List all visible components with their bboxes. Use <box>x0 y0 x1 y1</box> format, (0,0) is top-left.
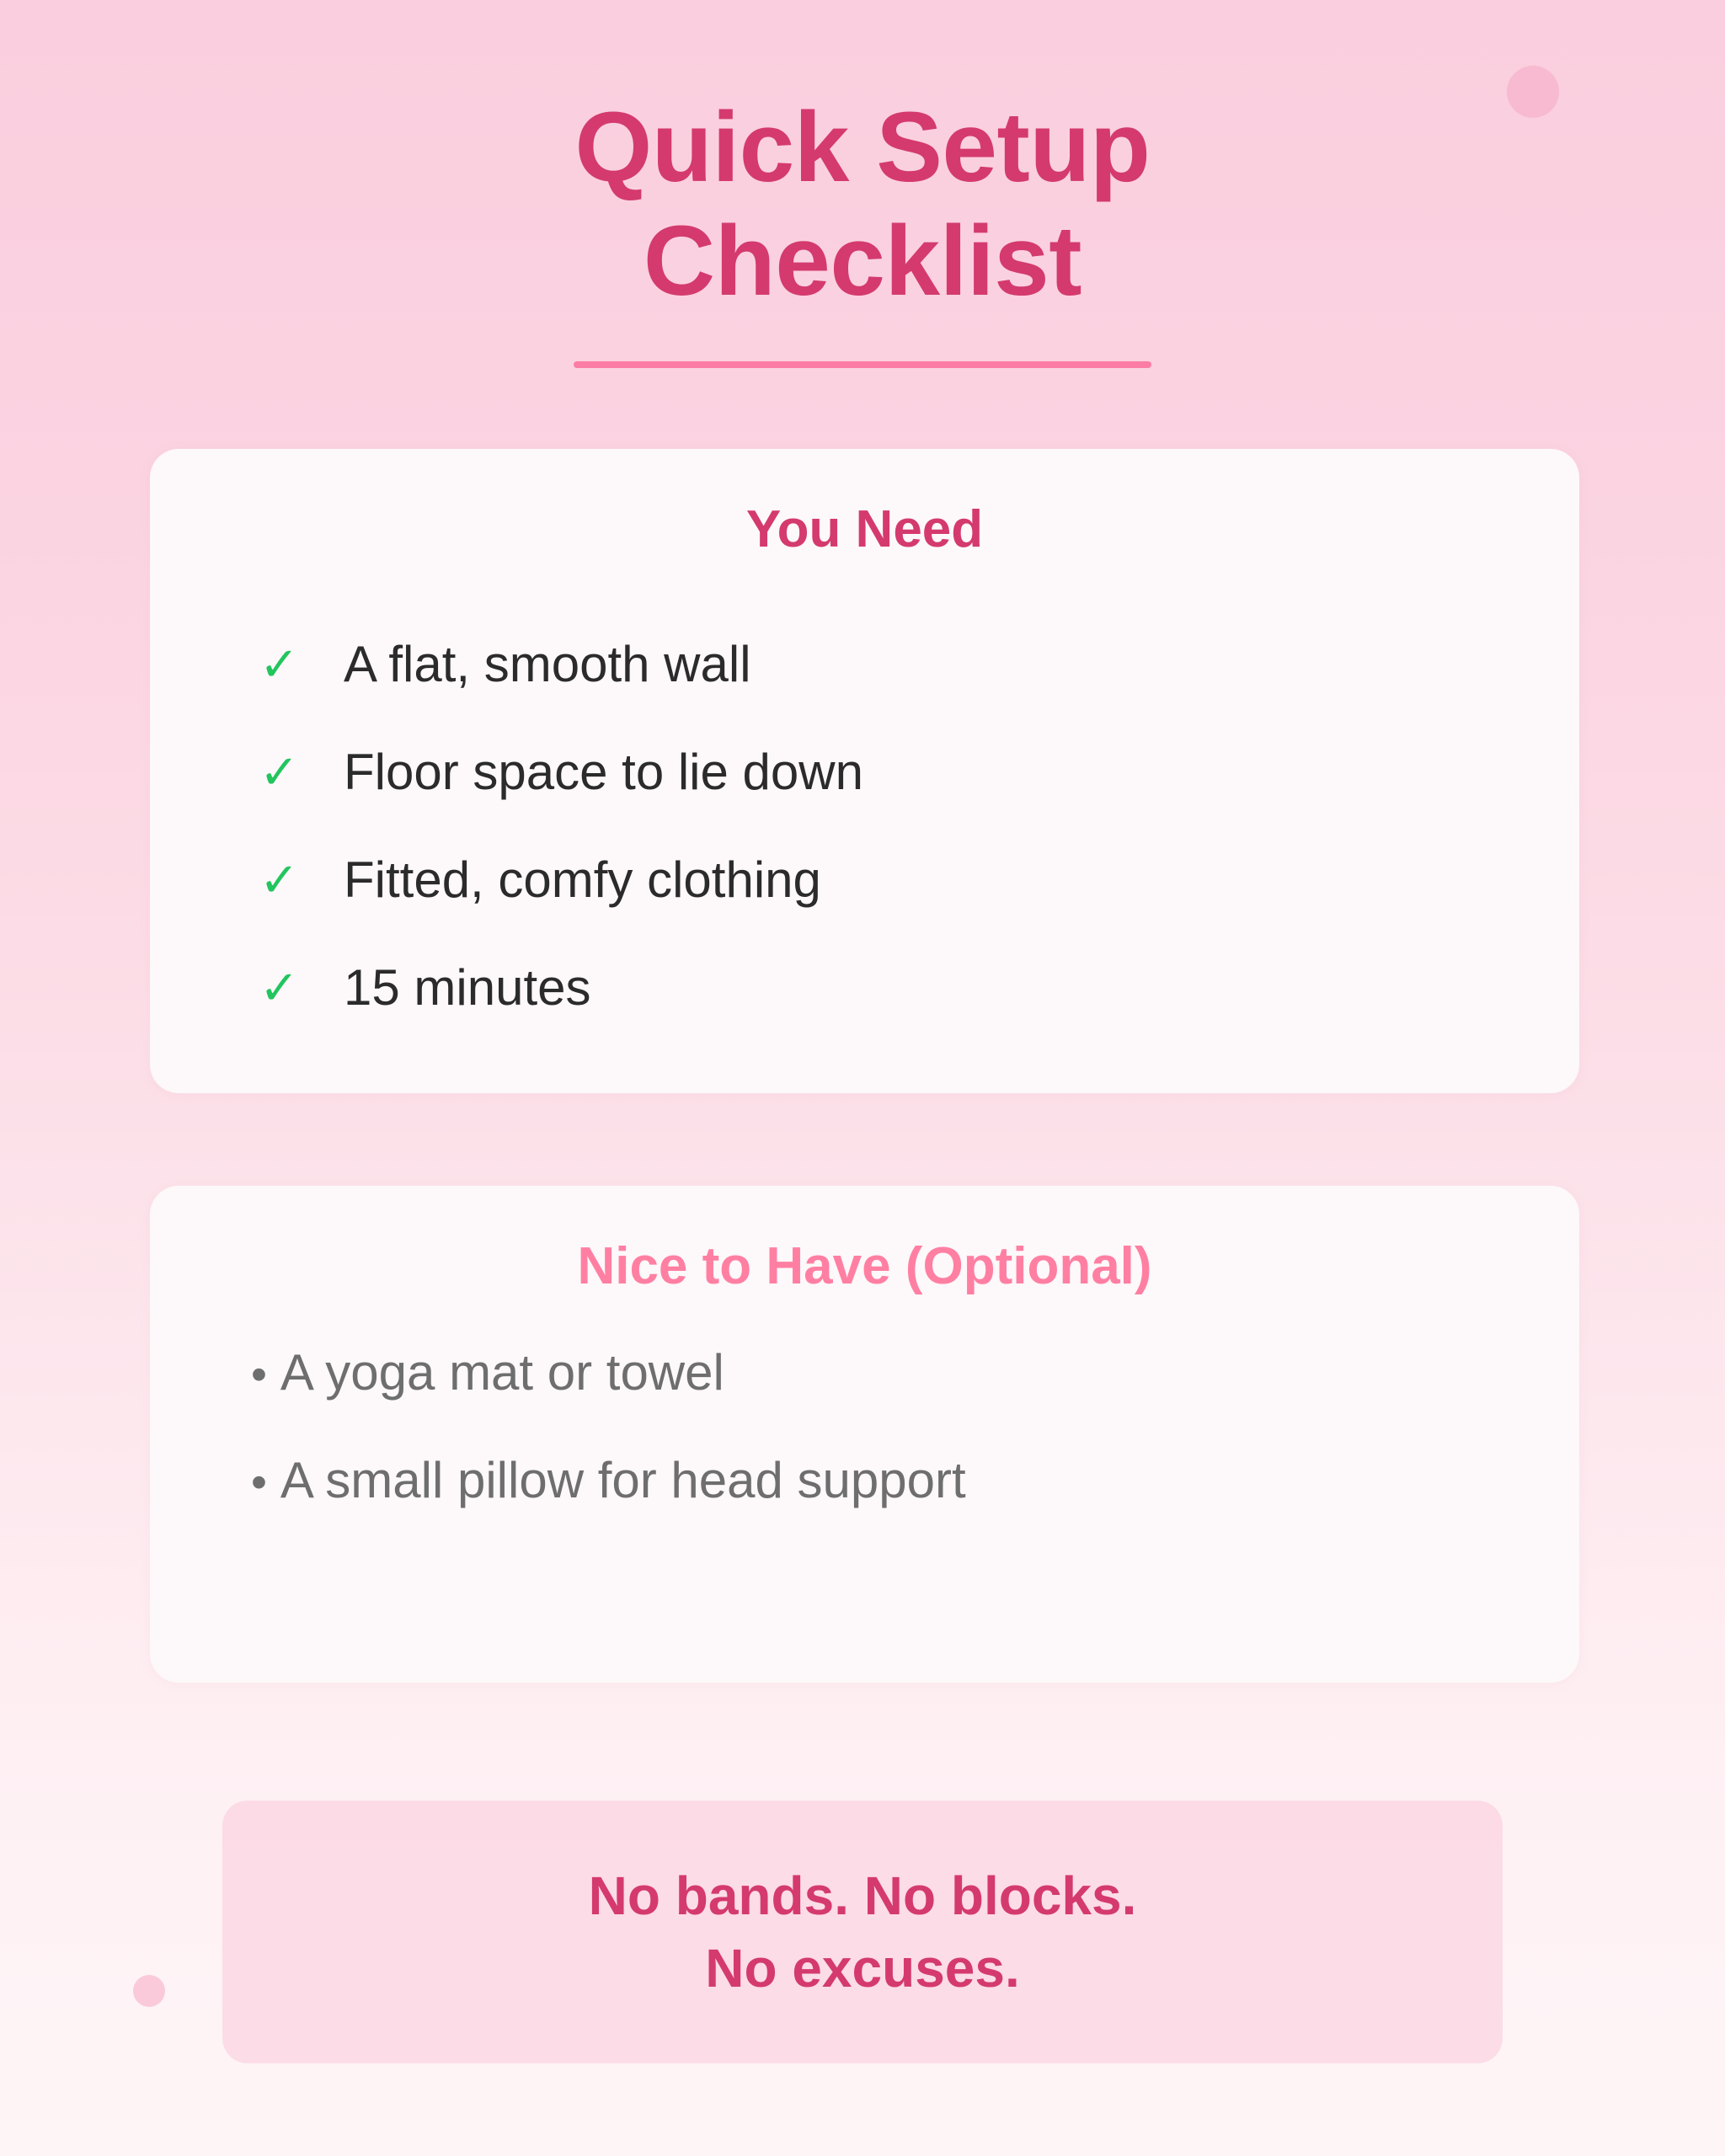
list-item[interactable]: • A small pillow for head support <box>251 1455 1579 1563</box>
check-icon: ✓ <box>259 749 312 796</box>
list-item-label: A yoga mat or towel <box>280 1347 724 1398</box>
page-title-line-2: Checklist <box>644 205 1081 317</box>
check-icon: ✓ <box>259 857 312 904</box>
checklist-you-need: ✓ A flat, smooth wall ✓ Floor space to l… <box>150 611 1579 1042</box>
list-item[interactable]: ✓ Floor space to lie down <box>259 718 1579 826</box>
check-icon: ✓ <box>259 964 312 1011</box>
list-item-label: Fitted, comfy clothing <box>344 855 821 905</box>
page-title: Quick Setup Checklist <box>150 91 1575 318</box>
card-nice-to-have: Nice to Have (Optional) • A yoga mat or … <box>150 1186 1579 1683</box>
list-item[interactable]: • A yoga mat or towel <box>251 1347 1579 1455</box>
page-header: Quick Setup Checklist <box>150 0 1575 368</box>
card-heading-nice-to-have: Nice to Have (Optional) <box>150 1238 1579 1295</box>
page-title-line-1: Quick Setup <box>575 92 1151 203</box>
list-item-label: A small pillow for head support <box>280 1455 966 1506</box>
footer-slogan-line-2: No excuses. <box>705 1938 1020 1999</box>
list-item[interactable]: ✓ A flat, smooth wall <box>259 611 1579 718</box>
bullet-icon: • <box>251 1460 267 1505</box>
card-heading-you-need: You Need <box>150 501 1579 558</box>
list-item-label: A flat, smooth wall <box>344 639 751 690</box>
checklist-page: Quick Setup Checklist You Need ✓ A flat,… <box>0 0 1725 2156</box>
list-item-label: Floor space to lie down <box>344 747 863 798</box>
list-item-label: 15 minutes <box>344 963 591 1013</box>
check-icon: ✓ <box>259 641 312 688</box>
footer-banner: No bands. No blocks. No excuses. <box>222 1801 1503 2063</box>
bulletlist-nice-to-have: • A yoga mat or towel • A small pillow f… <box>150 1347 1579 1563</box>
list-item[interactable]: ✓ Fitted, comfy clothing <box>259 826 1579 934</box>
card-you-need: You Need ✓ A flat, smooth wall ✓ Floor s… <box>150 449 1579 1093</box>
title-divider <box>574 361 1151 368</box>
list-item[interactable]: ✓ 15 minutes <box>259 934 1579 1042</box>
footer-slogan: No bands. No blocks. No excuses. <box>589 1860 1137 2005</box>
bullet-icon: • <box>251 1352 267 1397</box>
decorative-circle-bottom-left <box>133 1975 165 2007</box>
footer-slogan-line-1: No bands. No blocks. <box>589 1865 1137 1926</box>
